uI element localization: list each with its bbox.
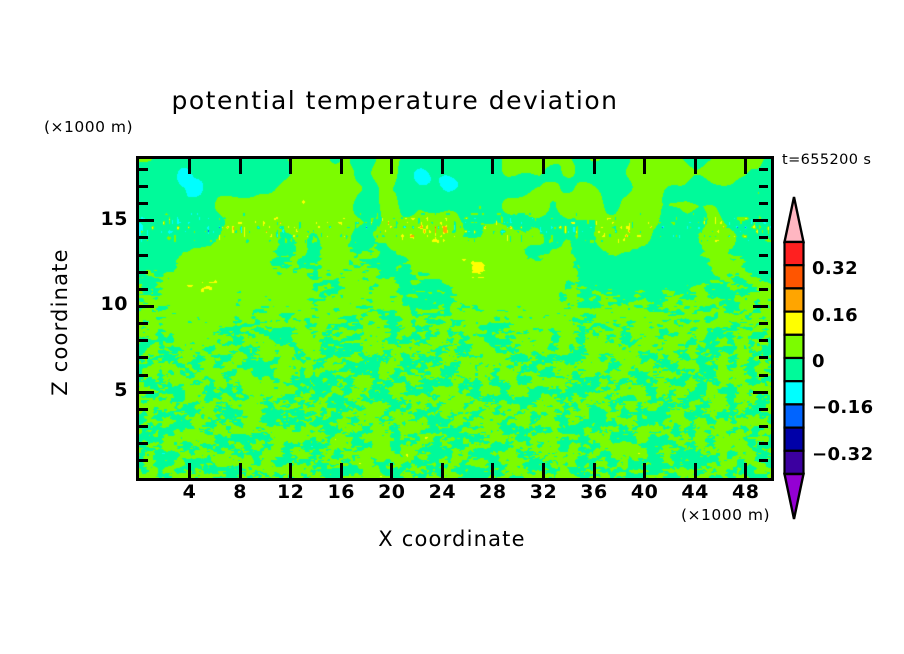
y-axis-tick (139, 459, 148, 462)
y-axis-tick (759, 339, 768, 342)
x-axis-tick (643, 159, 646, 174)
x-axis-tick (593, 159, 596, 174)
x-axis-tick (491, 159, 494, 174)
x-axis-tick (340, 463, 343, 478)
y-axis-tick-label: 10 (92, 293, 128, 315)
y-axis-tick (139, 305, 154, 308)
x-axis-units-label: (×1000 m) (681, 506, 770, 524)
x-axis-tick-label: 48 (716, 481, 776, 503)
colorbar-band[interactable] (785, 451, 804, 474)
x-axis-tick (188, 463, 191, 478)
y-axis-tick (139, 408, 148, 411)
colorbar-tick-label: 0.32 (812, 258, 858, 279)
x-axis-tick (744, 463, 747, 478)
temperature-deviation-field (139, 159, 771, 478)
x-axis-tick (694, 159, 697, 174)
x-axis-tick (744, 159, 747, 174)
y-axis-tick (753, 219, 768, 222)
x-axis-tick (390, 159, 393, 174)
y-axis-tick (139, 374, 148, 377)
y-axis-tick (759, 425, 768, 428)
x-axis-tick (390, 463, 393, 478)
colorbar-tick-label: 0 (812, 351, 825, 372)
y-axis-tick (139, 185, 148, 188)
y-axis-tick (759, 322, 768, 325)
simulation-time-annotation: t=655200 s (782, 152, 871, 168)
y-axis-tick-label: 5 (92, 379, 128, 401)
contour-plot-panel[interactable] (136, 156, 774, 481)
colorbar-tick-label: −0.32 (812, 444, 874, 465)
x-axis-tick (643, 463, 646, 478)
colorbar[interactable] (781, 196, 807, 526)
y-axis-tick (759, 442, 768, 445)
y-axis-tick (139, 219, 154, 222)
x-axis-tick (340, 159, 343, 174)
colorbar-tick-label: 0.16 (812, 305, 858, 326)
colorbar-under-arrow (785, 474, 804, 519)
y-axis-tick-label: 15 (92, 208, 128, 230)
colorbar-band[interactable] (785, 381, 804, 404)
y-axis-units-label: (×1000 m) (44, 118, 133, 136)
x-axis-tick (441, 159, 444, 174)
y-axis-tick (139, 236, 148, 239)
y-axis-title: Z coordinate (48, 222, 72, 422)
y-axis-tick (139, 425, 148, 428)
y-axis-tick (759, 408, 768, 411)
y-axis-tick (753, 305, 768, 308)
y-axis-tick (139, 356, 148, 359)
y-axis-tick (759, 271, 768, 274)
y-axis-tick (759, 356, 768, 359)
x-axis-tick (239, 159, 242, 174)
colorbar-band[interactable] (785, 404, 804, 427)
x-axis-title: X coordinate (136, 527, 768, 551)
x-axis-tick (542, 159, 545, 174)
x-axis-tick (542, 463, 545, 478)
y-axis-tick (759, 202, 768, 205)
colorbar-band[interactable] (785, 335, 804, 358)
colorbar-band[interactable] (785, 358, 804, 381)
x-axis-tick (441, 463, 444, 478)
y-axis-tick (139, 254, 148, 257)
y-axis-tick (139, 322, 148, 325)
y-axis-tick (139, 202, 148, 205)
colorbar-band[interactable] (785, 242, 804, 265)
y-axis-tick (753, 391, 768, 394)
colorbar-tick-label: −0.16 (812, 397, 874, 418)
y-axis-tick (759, 288, 768, 291)
colorbar-band[interactable] (785, 288, 804, 311)
y-axis-tick (139, 168, 148, 171)
y-axis-tick (759, 374, 768, 377)
y-axis-tick (759, 168, 768, 171)
x-axis-tick (239, 463, 242, 478)
y-axis-tick (139, 288, 148, 291)
y-axis-tick (139, 271, 148, 274)
y-axis-tick (759, 185, 768, 188)
x-axis-tick (694, 463, 697, 478)
y-axis-tick (139, 339, 148, 342)
x-axis-tick (491, 463, 494, 478)
y-axis-tick (759, 254, 768, 257)
x-axis-tick (289, 463, 292, 478)
x-axis-tick (593, 463, 596, 478)
y-axis-tick (759, 236, 768, 239)
y-axis-tick (759, 459, 768, 462)
x-axis-tick (188, 159, 191, 174)
y-axis-tick (139, 442, 148, 445)
colorbar-band[interactable] (785, 265, 804, 288)
colorbar-over-arrow (785, 197, 804, 242)
colorbar-swatches (781, 196, 807, 520)
x-axis-tick (289, 159, 292, 174)
colorbar-band[interactable] (785, 312, 804, 335)
colorbar-band[interactable] (785, 428, 804, 451)
y-axis-tick (139, 391, 154, 394)
page-title: potential temperature deviation (0, 86, 790, 115)
